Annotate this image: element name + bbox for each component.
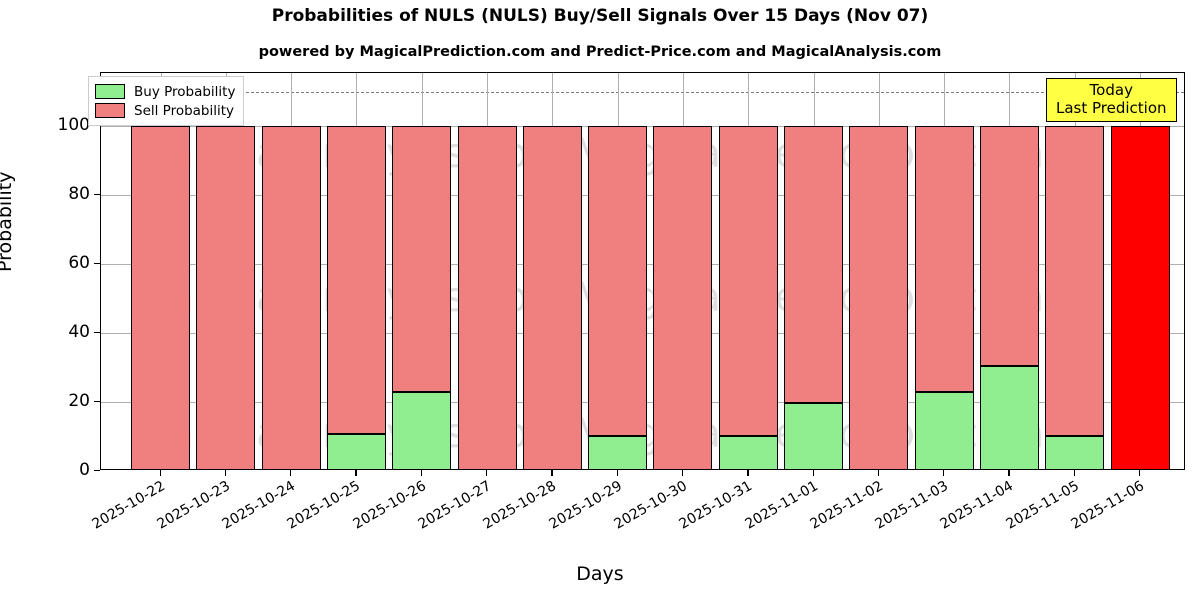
bar-segment-sell[interactable] <box>1045 126 1104 436</box>
bar-segment-sell[interactable] <box>588 126 647 436</box>
chart-legend: Buy Probability Sell Probability <box>88 76 244 126</box>
today-annotation: Today Last Prediction <box>1046 78 1177 122</box>
bar-stack[interactable] <box>980 126 1039 469</box>
bar-segment-sell[interactable] <box>327 126 386 434</box>
x-tick-mark <box>813 470 814 476</box>
bar-segment-sell[interactable] <box>458 126 517 469</box>
x-tick-mark <box>747 470 748 476</box>
legend-swatch-buy <box>95 84 125 99</box>
x-tick-mark <box>160 470 161 476</box>
today-annotation-line1: Today <box>1056 82 1167 100</box>
bar-segment-sell[interactable] <box>915 126 974 392</box>
bar-stack[interactable] <box>784 126 843 469</box>
bar-segment-buy[interactable] <box>915 392 974 469</box>
bar-stack[interactable] <box>653 126 712 469</box>
bar-segment-buy[interactable] <box>980 366 1039 469</box>
x-tick-mark <box>1008 470 1009 476</box>
bar-segment-sell[interactable] <box>262 126 321 469</box>
bar-segment-buy[interactable] <box>392 392 451 469</box>
bar-segment-buy[interactable] <box>1045 436 1104 469</box>
y-tick-label: 40 <box>48 322 90 342</box>
x-tick-mark <box>617 470 618 476</box>
bar-segment-sell[interactable] <box>196 126 255 469</box>
y-tick-mark <box>94 194 100 195</box>
y-tick-mark <box>94 470 100 471</box>
legend-swatch-sell <box>95 103 125 118</box>
chart-subtitle: powered by MagicalPrediction.com and Pre… <box>0 44 1200 60</box>
bar-stack[interactable] <box>719 126 778 469</box>
x-tick-mark <box>486 470 487 476</box>
y-axis-label: Probability <box>0 172 16 272</box>
bar-segment-sell[interactable] <box>392 126 451 392</box>
y-tick-label: 20 <box>48 391 90 411</box>
legend-label-buy: Buy Probability <box>134 84 235 100</box>
bar-stack[interactable] <box>588 126 647 469</box>
today-annotation-line2: Last Prediction <box>1056 100 1167 118</box>
x-axis-label: Days <box>0 563 1200 585</box>
x-tick-mark <box>1074 470 1075 476</box>
bar-stack[interactable] <box>131 126 190 469</box>
legend-item-buy: Buy Probability <box>95 82 235 101</box>
x-tick-mark <box>355 470 356 476</box>
x-tick-mark <box>682 470 683 476</box>
plot-inner: MagicalAnalysis.comMagicalPrediction.com… <box>101 73 1184 469</box>
bar-segment-buy[interactable] <box>784 403 843 469</box>
x-tick-mark <box>551 470 552 476</box>
bar-stack[interactable] <box>849 126 908 469</box>
bar-stack[interactable] <box>262 126 321 469</box>
x-tick-mark <box>290 470 291 476</box>
bar-segment-sell[interactable] <box>980 126 1039 366</box>
y-tick-mark <box>94 263 100 264</box>
bar-segment-sell[interactable] <box>523 126 582 469</box>
x-tick-mark <box>421 470 422 476</box>
x-tick-mark <box>878 470 879 476</box>
bar-segment-buy[interactable] <box>588 436 647 469</box>
bar-stack[interactable] <box>392 126 451 469</box>
bar-segment-sell[interactable] <box>653 126 712 469</box>
bar-stack[interactable] <box>196 126 255 469</box>
bar-stack[interactable] <box>915 126 974 469</box>
bar-segment-buy[interactable] <box>327 434 386 469</box>
legend-label-sell: Sell Probability <box>134 103 234 119</box>
bar-stack[interactable] <box>1045 126 1104 469</box>
bar-stack[interactable] <box>1111 126 1170 469</box>
reference-dashed-line <box>101 92 1184 93</box>
legend-item-sell: Sell Probability <box>95 101 235 120</box>
y-tick-mark <box>94 332 100 333</box>
bar-segment-sell[interactable] <box>131 126 190 469</box>
y-tick-mark <box>94 401 100 402</box>
bar-stack[interactable] <box>458 126 517 469</box>
bar-segment-sell[interactable] <box>784 126 843 403</box>
chart-root: Probabilities of NULS (NULS) Buy/Sell Si… <box>0 0 1200 600</box>
bar-segment-sell[interactable] <box>719 126 778 436</box>
x-tick-mark <box>225 470 226 476</box>
plot-area: MagicalAnalysis.comMagicalPrediction.com… <box>100 72 1185 470</box>
x-tick-mark <box>943 470 944 476</box>
bar-segment-sell[interactable] <box>849 126 908 469</box>
bar-segment-today[interactable] <box>1111 126 1170 469</box>
chart-title: Probabilities of NULS (NULS) Buy/Sell Si… <box>0 6 1200 26</box>
bar-stack[interactable] <box>327 126 386 469</box>
y-tick-label: 0 <box>48 460 90 480</box>
y-tick-label: 100 <box>48 115 90 135</box>
y-tick-label: 60 <box>48 253 90 273</box>
bar-segment-buy[interactable] <box>719 436 778 469</box>
x-tick-mark <box>1139 470 1140 476</box>
bar-stack[interactable] <box>523 126 582 469</box>
y-tick-label: 80 <box>48 184 90 204</box>
